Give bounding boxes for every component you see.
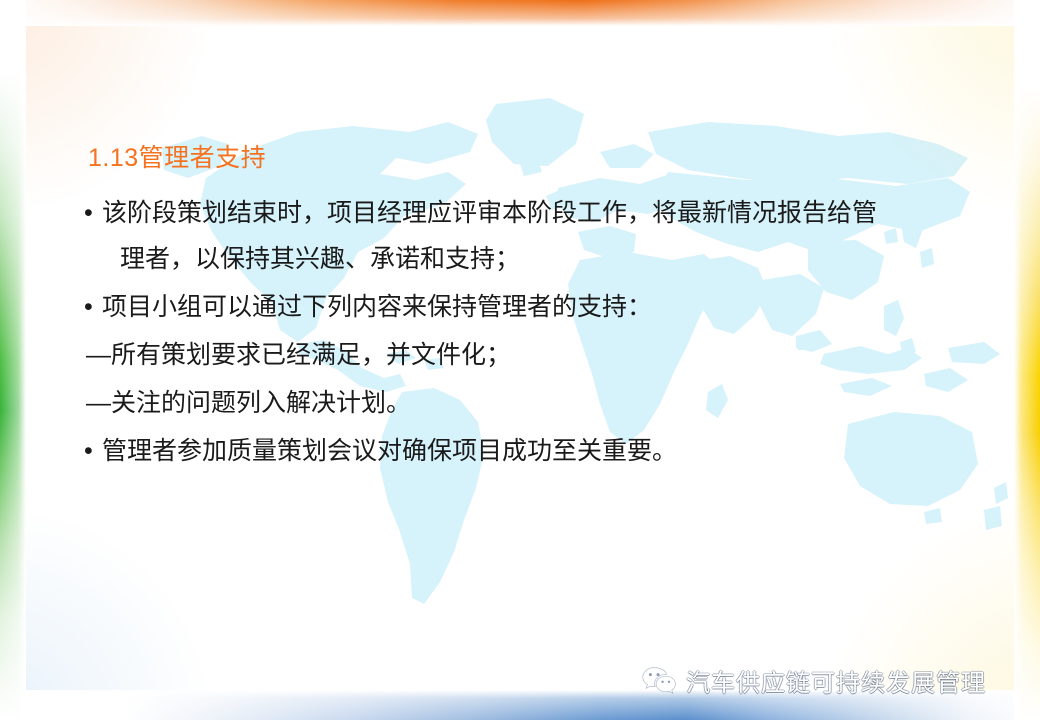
- list-item-line: —所有策划要求已经满足，并文件化；: [86, 332, 980, 378]
- list-item-line: —关注的问题列入解决计划。: [86, 380, 980, 426]
- slide-content: 1.13管理者支持 • 该阶段策划结束时，项目经理应评审本阶段工作，将最新情况报…: [0, 0, 1040, 720]
- watermark-text: 汽车供应链可持续发展管理: [686, 663, 986, 698]
- slide-title: 1.13管理者支持: [88, 143, 266, 173]
- bullet-marker-icon: •: [84, 428, 93, 474]
- list-item: —关注的问题列入解决计划。: [80, 380, 980, 426]
- list-item-line: 该阶段策划结束时，项目经理应评审本阶段工作，将最新情况报告给管: [102, 190, 980, 236]
- slide-canvas: 1.13管理者支持 • 该阶段策划结束时，项目经理应评审本阶段工作，将最新情况报…: [0, 0, 1040, 720]
- list-item: —所有策划要求已经满足，并文件化；: [80, 332, 980, 378]
- wechat-watermark: 汽车供应链可持续发展管理: [642, 663, 986, 698]
- bullet-marker-icon: •: [84, 190, 93, 236]
- list-item-line-continued: 理者，以保持其兴趣、承诺和支持；: [102, 236, 980, 282]
- list-item-line: 管理者参加质量策划会议对确保项目成功至关重要。: [102, 428, 980, 474]
- bullet-marker-icon: •: [84, 284, 93, 330]
- slide-body-list: • 该阶段策划结束时，项目经理应评审本阶段工作，将最新情况报告给管 理者，以保持…: [80, 190, 980, 476]
- list-item: • 项目小组可以通过下列内容来保持管理者的支持：: [80, 284, 980, 330]
- wechat-icon: [642, 666, 676, 696]
- list-item: • 管理者参加质量策划会议对确保项目成功至关重要。: [80, 428, 980, 474]
- list-item-line: 项目小组可以通过下列内容来保持管理者的支持：: [102, 284, 980, 330]
- list-item: • 该阶段策划结束时，项目经理应评审本阶段工作，将最新情况报告给管 理者，以保持…: [80, 190, 980, 282]
